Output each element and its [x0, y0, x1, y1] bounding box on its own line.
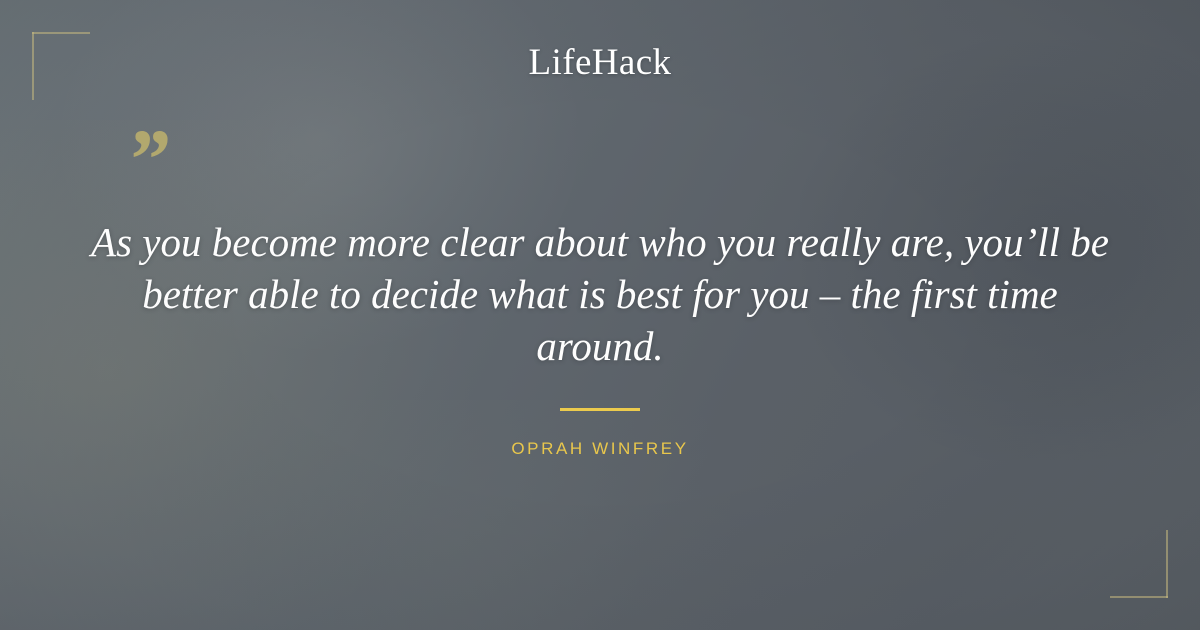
corner-bracket-bottom-right-icon [1110, 530, 1168, 598]
corner-bracket-horizontal-rule [1110, 596, 1168, 598]
brand-logo: LifeHack [0, 41, 1200, 84]
quote-line: around. [80, 320, 1120, 372]
quote-line: better able to decide what is best for y… [80, 268, 1120, 320]
quote-line: As you become more clear about who you r… [80, 216, 1120, 268]
corner-bracket-vertical-rule [1166, 530, 1168, 598]
quote-author: OPRAH WINFREY [0, 439, 1200, 459]
quotation-mark-icon: ” [126, 116, 169, 202]
corner-bracket-horizontal-rule [32, 32, 90, 34]
quote-card: LifeHack ” As you become more clear abou… [0, 0, 1200, 630]
quote-text: As you become more clear about who you r… [80, 216, 1120, 372]
gold-divider-rule [560, 408, 640, 411]
